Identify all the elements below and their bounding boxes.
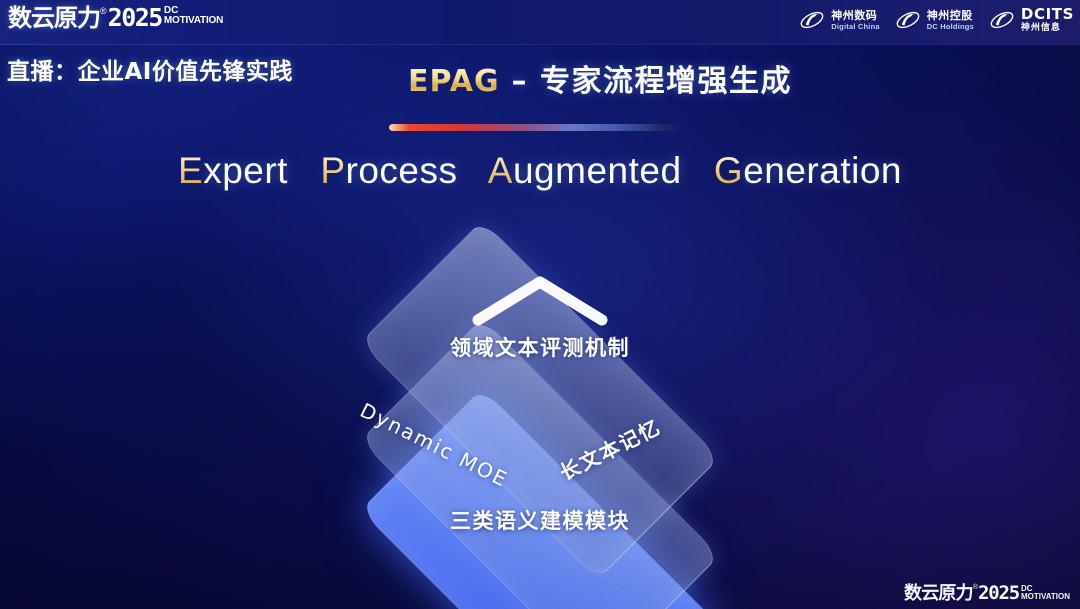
- watermark-dc-block: DC MOTIVATION: [1021, 585, 1070, 601]
- watermark-motivation: MOTIVATION: [1021, 592, 1070, 601]
- page-subtitle: Expert Process Augmented Generation: [0, 150, 1080, 192]
- partner-text: DCITS 神州信息: [1021, 7, 1074, 33]
- event-logo-name-cn: 数云原力: [8, 4, 100, 32]
- partner-name-en: DCITS: [1021, 7, 1074, 22]
- subtitle-space: [692, 150, 703, 191]
- subtitle-rest: ugmented: [513, 150, 682, 191]
- partner-name-cn: 神州信息: [1021, 24, 1074, 33]
- swirl-logo-icon: [894, 7, 922, 33]
- partner-logo-dc-holdings: 神州控股 DC Holdings: [894, 7, 974, 33]
- subtitle-rest: xpert: [203, 150, 288, 191]
- subtitle-capital: E: [178, 150, 203, 191]
- gradient-divider: [389, 124, 683, 131]
- event-logo-year: 2025: [108, 4, 162, 32]
- event-logo-dc-block: DC MOTIVATION: [164, 6, 223, 26]
- subtitle-capital: P: [320, 150, 345, 191]
- partner-logo-group: 神州数码 Digital China 神州控股 DC Holdings: [798, 7, 1074, 33]
- event-logo-motivation: MOTIVATION: [164, 15, 223, 26]
- page-title-acronym: EPAG: [408, 64, 500, 99]
- subtitle-space: [468, 150, 479, 191]
- partner-logo-dcits: DCITS 神州信息: [988, 7, 1074, 33]
- subtitle-space: [299, 150, 310, 191]
- slide-canvas: 数云原力 ® 2025 DC MOTIVATION 直播：企业AI价值先锋实践 …: [0, 0, 1080, 609]
- partner-text: 神州控股 DC Holdings: [927, 10, 974, 31]
- chevron-up-icon: [470, 272, 610, 328]
- partner-name-en: DC Holdings: [927, 23, 974, 31]
- subtitle-word: Process: [320, 150, 457, 191]
- stack-label-bottom: 三类语义建模模块: [450, 505, 630, 535]
- swirl-logo-icon: [988, 7, 1016, 33]
- event-logo-dc: DC: [164, 6, 223, 15]
- subtitle-rest: rocess: [346, 150, 458, 191]
- swirl-logo-icon: [798, 7, 826, 33]
- partner-text: 神州数码 Digital China: [831, 10, 879, 31]
- watermark-logo: 数云原力 ® 2025 DC MOTIVATION: [904, 583, 1070, 604]
- partner-name-en: Digital China: [831, 23, 879, 31]
- subtitle-word: Expert: [178, 150, 288, 191]
- event-logo: 数云原力 ® 2025 DC MOTIVATION: [8, 4, 223, 32]
- event-logo-registered-mark: ®: [100, 5, 107, 17]
- page-title-separator: –: [500, 64, 540, 99]
- partner-name-cn: 神州数码: [831, 10, 879, 21]
- live-strap-text: 直播：企业AI价值先锋实践: [7, 52, 293, 86]
- subtitle-rest: eneration: [743, 150, 902, 191]
- subtitle-word: Generation: [714, 150, 902, 191]
- watermark-year: 2025: [978, 583, 1019, 604]
- stack-label-top: 领域文本评测机制: [450, 332, 630, 362]
- partner-logo-digital-china: 神州数码 Digital China: [798, 7, 879, 33]
- partner-name-cn: 神州控股: [927, 10, 974, 21]
- watermark-name-cn: 数云原力: [904, 583, 973, 604]
- subtitle-word: Augmented: [488, 150, 682, 191]
- subtitle-capital: A: [488, 150, 513, 191]
- subtitle-capital: G: [714, 150, 743, 191]
- watermark-dc: DC: [1021, 585, 1070, 592]
- page-title-cn: 专家流程增强生成: [540, 64, 792, 99]
